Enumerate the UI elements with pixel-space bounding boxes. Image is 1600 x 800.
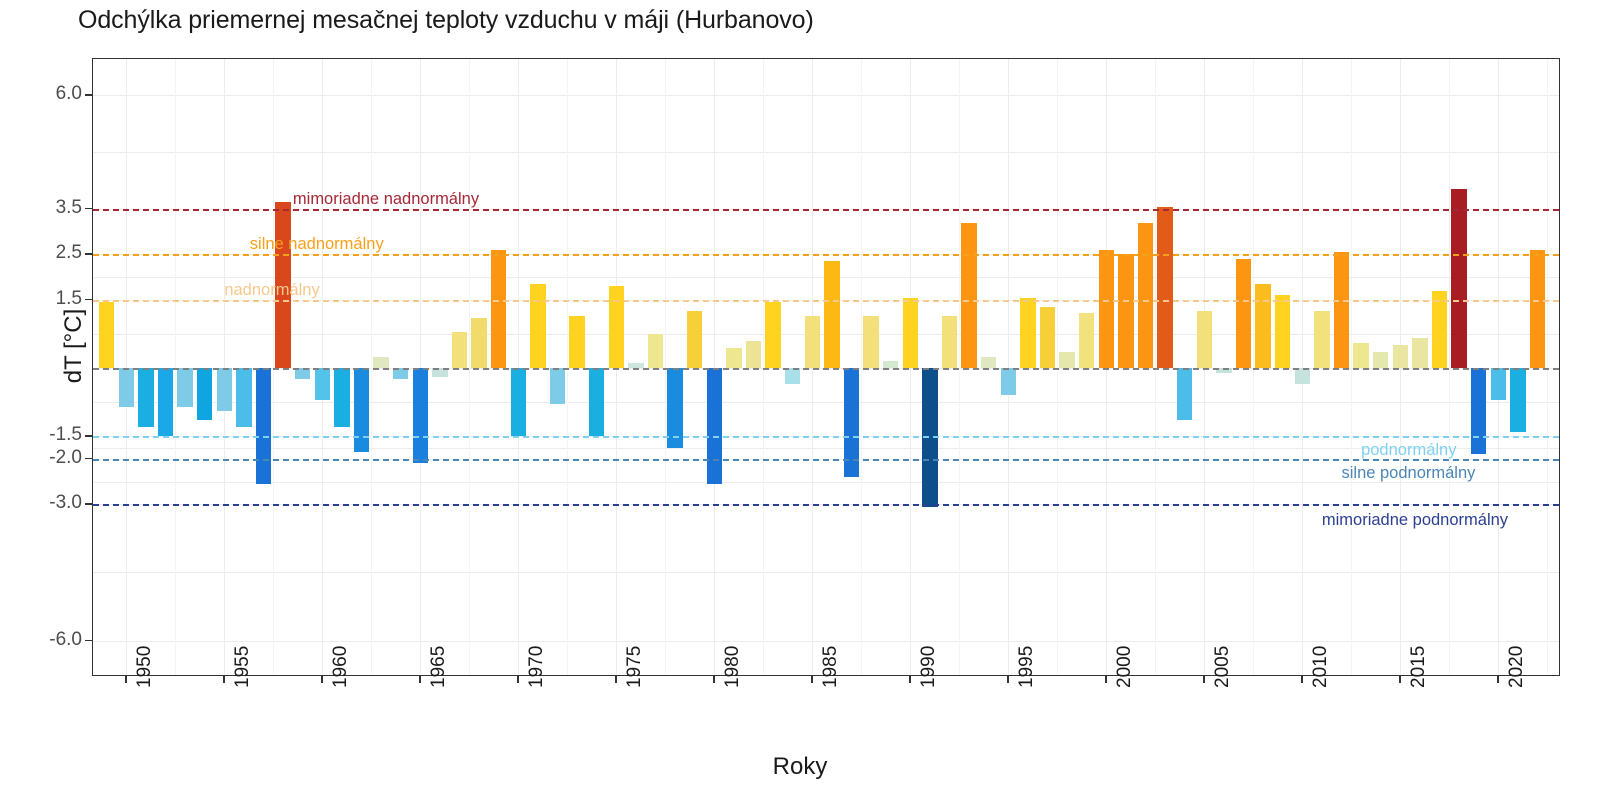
x-axis-tick xyxy=(1105,676,1106,683)
gridline-vertical-minor xyxy=(1253,59,1254,675)
bar[interactable] xyxy=(1157,207,1172,368)
threshold-annotation: podnormálny xyxy=(1361,441,1456,460)
gridline-vertical-minor xyxy=(763,59,764,675)
bar[interactable] xyxy=(883,361,898,368)
gridline-horizontal xyxy=(93,402,1559,403)
bar[interactable] xyxy=(354,368,369,452)
bar[interactable] xyxy=(1099,250,1114,368)
bar[interactable] xyxy=(236,368,251,427)
bar[interactable] xyxy=(1001,368,1016,395)
bar[interactable] xyxy=(1432,291,1447,368)
bar[interactable] xyxy=(334,368,349,427)
x-axis-tick xyxy=(811,676,812,683)
bar[interactable] xyxy=(217,368,232,411)
bar[interactable] xyxy=(942,316,957,368)
gridline-vertical-minor xyxy=(1155,59,1156,675)
chart-root: Odchýlka priemernej mesačnej teploty vzd… xyxy=(0,0,1600,800)
bar[interactable] xyxy=(648,334,663,368)
threshold-annotation: nadnormálny xyxy=(224,281,319,300)
gridline-vertical-minor xyxy=(1449,59,1450,675)
gridline-horizontal xyxy=(93,152,1559,153)
gridline-vertical-minor xyxy=(1057,59,1058,675)
bar[interactable] xyxy=(550,368,565,404)
gridline-horizontal xyxy=(93,641,1559,642)
bar[interactable] xyxy=(765,302,780,368)
gridline-vertical-minor xyxy=(273,59,274,675)
x-axis-tick-label: 2020 xyxy=(1506,646,1528,688)
x-axis-tick-label: 1985 xyxy=(820,646,842,688)
bar[interactable] xyxy=(1451,189,1466,368)
x-axis-tick xyxy=(909,676,910,683)
gridline-horizontal xyxy=(93,95,1559,96)
x-axis-tick-label: 1995 xyxy=(1016,646,1038,688)
threshold-line xyxy=(93,436,1559,438)
gridline-vertical xyxy=(126,59,127,675)
x-axis-tick-label: 1950 xyxy=(134,646,156,688)
bar[interactable] xyxy=(903,298,918,368)
gridline-vertical-minor xyxy=(371,59,372,675)
bar[interactable] xyxy=(413,368,428,463)
page-title: Odchýlka priemernej mesačnej teploty vzd… xyxy=(78,6,814,35)
y-axis-tick xyxy=(85,94,92,95)
x-axis-tick xyxy=(419,676,420,683)
y-axis-tick xyxy=(85,640,92,641)
x-axis-tick-label: 1970 xyxy=(526,646,548,688)
bar[interactable] xyxy=(1177,368,1192,420)
y-axis-tick-label: -1.5 xyxy=(49,424,82,446)
y-axis-tick-label: -3.0 xyxy=(49,492,82,514)
threshold-line xyxy=(93,254,1559,256)
y-axis-tick xyxy=(85,435,92,436)
gridline-vertical-minor xyxy=(1547,59,1548,675)
y-axis-tick xyxy=(85,299,92,300)
gridline-vertical xyxy=(518,59,519,675)
bar[interactable] xyxy=(1373,352,1388,368)
bar[interactable] xyxy=(1275,295,1290,368)
y-axis-tick-label: 3.5 xyxy=(56,197,82,219)
threshold-annotation: mimoriadne nadnormálny xyxy=(293,190,479,209)
x-axis-tick xyxy=(517,676,518,683)
bar[interactable] xyxy=(863,316,878,368)
bar[interactable] xyxy=(1530,250,1545,368)
y-axis-tick-label: -2.0 xyxy=(49,447,82,469)
bar[interactable] xyxy=(138,368,153,427)
bar[interactable] xyxy=(256,368,271,484)
gridline-vertical-minor xyxy=(959,59,960,675)
bar[interactable] xyxy=(824,261,839,368)
threshold-annotation: silne nadnormálny xyxy=(250,235,384,254)
bar[interactable] xyxy=(589,368,604,436)
bar[interactable] xyxy=(99,302,114,368)
bar[interactable] xyxy=(1314,311,1329,368)
x-axis-tick-label: 2000 xyxy=(1114,646,1136,688)
bar[interactable] xyxy=(746,341,761,368)
x-axis-tick xyxy=(1203,676,1204,683)
x-axis-tick-label: 2010 xyxy=(1310,646,1332,688)
threshold-line xyxy=(93,504,1559,506)
gridline-vertical-minor xyxy=(861,59,862,675)
x-axis-tick-label: 1965 xyxy=(428,646,450,688)
y-axis-tick xyxy=(85,208,92,209)
x-axis-tick xyxy=(125,676,126,683)
bar[interactable] xyxy=(177,368,192,407)
x-axis-tick xyxy=(1301,676,1302,683)
bar[interactable] xyxy=(1020,298,1035,368)
threshold-line xyxy=(93,209,1559,211)
gridline-vertical xyxy=(1302,59,1303,675)
x-axis-tick xyxy=(1399,676,1400,683)
bar[interactable] xyxy=(1471,368,1486,454)
gridline-vertical xyxy=(322,59,323,675)
x-axis-tick-label: 1955 xyxy=(232,646,254,688)
bar[interactable] xyxy=(530,284,545,368)
gridline-vertical-minor xyxy=(175,59,176,675)
gridline-vertical xyxy=(1498,59,1499,675)
bar[interactable] xyxy=(373,357,388,368)
bar[interactable] xyxy=(1510,368,1525,432)
threshold-line xyxy=(93,459,1559,461)
bar[interactable] xyxy=(1138,223,1153,368)
threshold-annotation: silne podnormálny xyxy=(1341,464,1475,483)
bar[interactable] xyxy=(1295,368,1310,384)
bar[interactable] xyxy=(961,223,976,368)
bar[interactable] xyxy=(707,368,722,484)
y-axis-tick xyxy=(85,253,92,254)
plot-area: mimoriadne nadnormálnysilne nadnormálnyn… xyxy=(92,58,1560,676)
gridline-vertical-minor xyxy=(1351,59,1352,675)
gridline-vertical-minor xyxy=(469,59,470,675)
bar[interactable] xyxy=(805,316,820,368)
x-axis-tick-label: 1960 xyxy=(330,646,352,688)
bar[interactable] xyxy=(511,368,526,436)
x-axis-tick xyxy=(1007,676,1008,683)
bar[interactable] xyxy=(1412,338,1427,368)
bar[interactable] xyxy=(1353,343,1368,368)
x-axis-tick xyxy=(1497,676,1498,683)
bar[interactable] xyxy=(315,368,330,400)
bar[interactable] xyxy=(1079,313,1094,368)
x-axis-tick xyxy=(713,676,714,683)
bar[interactable] xyxy=(981,357,996,368)
x-axis-title: Roky xyxy=(0,753,1600,781)
bar[interactable] xyxy=(1236,259,1251,368)
x-axis-tick-label: 1990 xyxy=(918,646,940,688)
bar[interactable] xyxy=(1197,311,1212,368)
bar[interactable] xyxy=(687,311,702,368)
gridline-vertical xyxy=(714,59,715,675)
bar[interactable] xyxy=(1334,252,1349,368)
x-axis-tick xyxy=(615,676,616,683)
y-axis-tick-label: 2.5 xyxy=(56,242,82,264)
x-axis-tick xyxy=(321,676,322,683)
x-axis-tick-label: 1980 xyxy=(722,646,744,688)
gridline-horizontal xyxy=(93,572,1559,573)
bar[interactable] xyxy=(609,286,624,368)
bar[interactable] xyxy=(1255,284,1270,368)
bar[interactable] xyxy=(471,318,486,368)
x-axis-tick-label: 2015 xyxy=(1408,646,1430,688)
gridline-vertical xyxy=(420,59,421,675)
bar[interactable] xyxy=(726,348,741,368)
y-axis-tick xyxy=(85,458,92,459)
bar[interactable] xyxy=(785,368,800,384)
bar[interactable] xyxy=(1118,254,1133,368)
gridline-horizontal xyxy=(93,448,1559,449)
gridline-vertical-minor xyxy=(567,59,568,675)
y-axis-tick xyxy=(85,503,92,504)
threshold-line xyxy=(93,300,1559,302)
y-axis-tick-label: -6.0 xyxy=(49,629,82,651)
threshold-line xyxy=(93,368,1559,370)
bar[interactable] xyxy=(197,368,212,420)
bar[interactable] xyxy=(491,250,506,368)
bar[interactable] xyxy=(1491,368,1506,400)
gridline-horizontal xyxy=(93,482,1559,483)
bar[interactable] xyxy=(1040,307,1055,368)
x-axis-tick xyxy=(223,676,224,683)
bar[interactable] xyxy=(119,368,134,407)
threshold-annotation: mimoriadne podnormálny xyxy=(1322,511,1508,530)
bar[interactable] xyxy=(452,332,467,368)
gridline-vertical xyxy=(224,59,225,675)
bar[interactable] xyxy=(1059,352,1074,368)
y-axis-tick-label: 6.0 xyxy=(56,83,82,105)
gridline-vertical-minor xyxy=(665,59,666,675)
gridline-vertical xyxy=(1008,59,1009,675)
x-axis-tick-label: 2005 xyxy=(1212,646,1234,688)
y-axis-tick-label: 1.5 xyxy=(56,288,82,310)
bar[interactable] xyxy=(1393,345,1408,368)
x-axis-tick-label: 1975 xyxy=(624,646,646,688)
bar[interactable] xyxy=(158,368,173,436)
bar[interactable] xyxy=(569,316,584,368)
